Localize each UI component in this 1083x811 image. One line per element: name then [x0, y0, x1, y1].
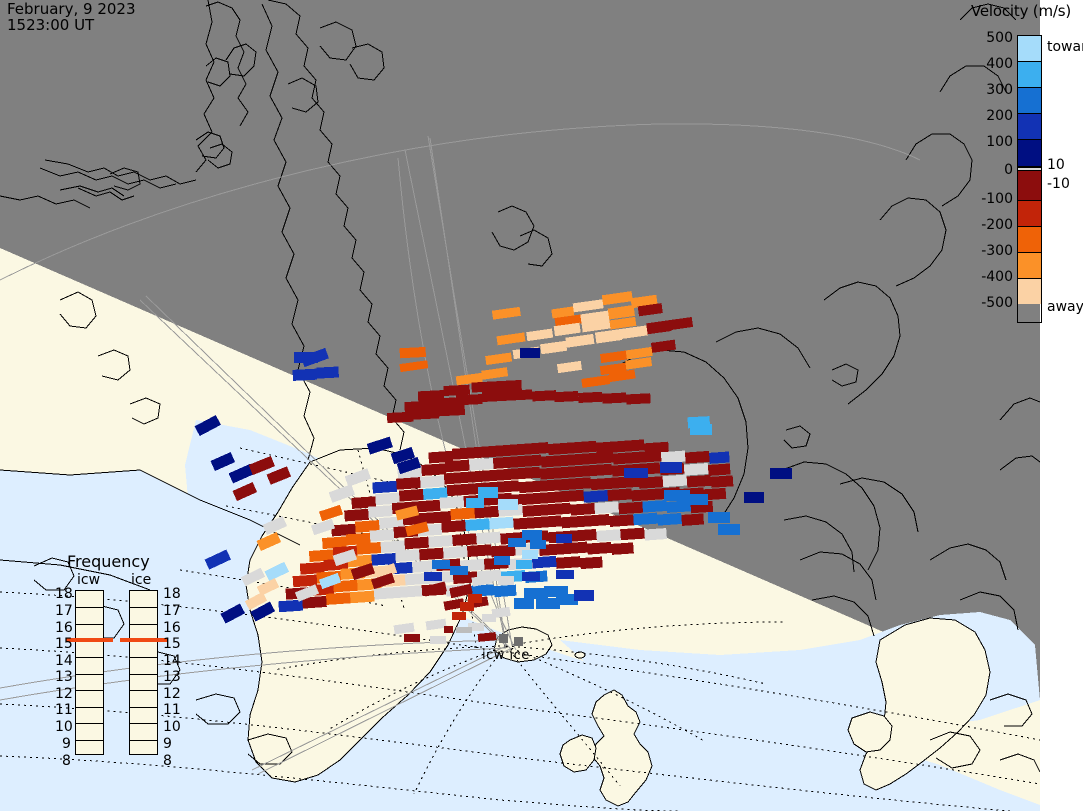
colorbar-tick-0: 0 — [1004, 163, 1013, 177]
frequency-label-right-16: 16 — [163, 621, 181, 635]
colorbar-tick-200: 200 — [986, 109, 1013, 123]
frequency-label-right-15: 15 — [163, 637, 181, 651]
colorbar-segment-300-400 — [1018, 62, 1041, 88]
colorbar-segment-10-100 — [1018, 140, 1041, 167]
faroe-islands — [575, 652, 585, 658]
colorbar-tick-300: 300 — [986, 83, 1013, 97]
frequency-label-right-13: 13 — [163, 670, 181, 684]
screenshot-root: February, 9 2023 1523:00 UT icw ice Velo… — [0, 0, 1083, 811]
frequency-label-left-16: 16 — [55, 621, 73, 635]
frequency-label-right-12: 12 — [163, 687, 181, 701]
radar-site-marker-ice — [514, 637, 523, 646]
colorbar-tick-400: 400 — [986, 57, 1013, 71]
colorbar-segment-200-300 — [1018, 88, 1041, 114]
frequency-label-left-17: 17 — [55, 604, 73, 618]
frequency-label-left-18: 18 — [55, 587, 73, 601]
frequency-label-left-14: 14 — [55, 654, 73, 668]
frequency-label-left-10: 10 — [55, 720, 73, 734]
colorbar-segment-n300-n400 — [1018, 253, 1041, 279]
colorbar-segment-n200-n300 — [1018, 227, 1041, 253]
colorbar-tick-n200: -200 — [981, 218, 1013, 232]
frequency-label-left-11: 11 — [55, 703, 73, 717]
frequency-label-left-13: 13 — [55, 670, 73, 684]
colorbar-segment-100-200 — [1018, 114, 1041, 140]
colorbar-segment-n10-n100 — [1018, 171, 1041, 201]
colorbar-away-label: away — [1047, 300, 1083, 314]
frequency-marker-ice — [120, 638, 167, 642]
colorbar-pos10-label: 10 — [1047, 158, 1065, 172]
colorbar-tick-n100: -100 — [981, 192, 1013, 206]
colorbar-segment-400-500 — [1018, 36, 1041, 62]
frequency-legend[interactable]: Frequency icw ice — [55, 552, 200, 782]
frequency-label-right-8: 8 — [163, 754, 172, 768]
frequency-sublabel-ice: ice — [131, 572, 151, 588]
frequency-label-left-15: 15 — [55, 637, 73, 651]
frequency-label-right-14: 14 — [163, 654, 181, 668]
colorbar-tick-n400: -400 — [981, 270, 1013, 284]
colorbar-tick-n300: -300 — [981, 244, 1013, 258]
frequency-label-right-17: 17 — [163, 604, 181, 618]
colorbar-neg10-label: -10 — [1047, 177, 1070, 191]
radar-site-marker-icw — [499, 634, 508, 643]
frequency-bar-icw[interactable] — [75, 590, 104, 755]
colorbar-tick-100: 100 — [986, 135, 1013, 149]
colorbar-segment-n400-n500 — [1018, 279, 1041, 304]
timestamp-label: February, 9 2023 1523:00 UT — [7, 2, 136, 34]
colorbar-title: Velocity (m/s) — [971, 2, 1071, 20]
frequency-label-left-8: 8 — [62, 754, 71, 768]
colorbar-tick-n500: -500 — [981, 296, 1013, 310]
colorbar-tick-500: 500 — [986, 31, 1013, 45]
colorbar-toward-label: toward — [1047, 40, 1083, 54]
frequency-marker-icw — [66, 638, 113, 642]
velocity-colorbar[interactable]: Velocity (m/s) 500 400 300 200 100 0 -10… — [957, 0, 1083, 340]
frequency-label-right-11: 11 — [163, 703, 181, 717]
radar-site-labels: icw ice — [482, 648, 530, 663]
frequency-label-right-9: 9 — [163, 737, 172, 751]
frequency-label-right-10: 10 — [163, 720, 181, 734]
frequency-label-right-18: 18 — [163, 587, 181, 601]
frequency-sublabel-icw: icw — [77, 572, 100, 588]
frequency-title: Frequency — [67, 552, 150, 571]
frequency-label-left-12: 12 — [55, 687, 73, 701]
colorbar-gradient[interactable] — [1017, 35, 1042, 323]
frequency-label-left-9: 9 — [62, 737, 71, 751]
frequency-bar-ice[interactable] — [129, 590, 158, 755]
colorbar-segment-n100-n200 — [1018, 201, 1041, 227]
